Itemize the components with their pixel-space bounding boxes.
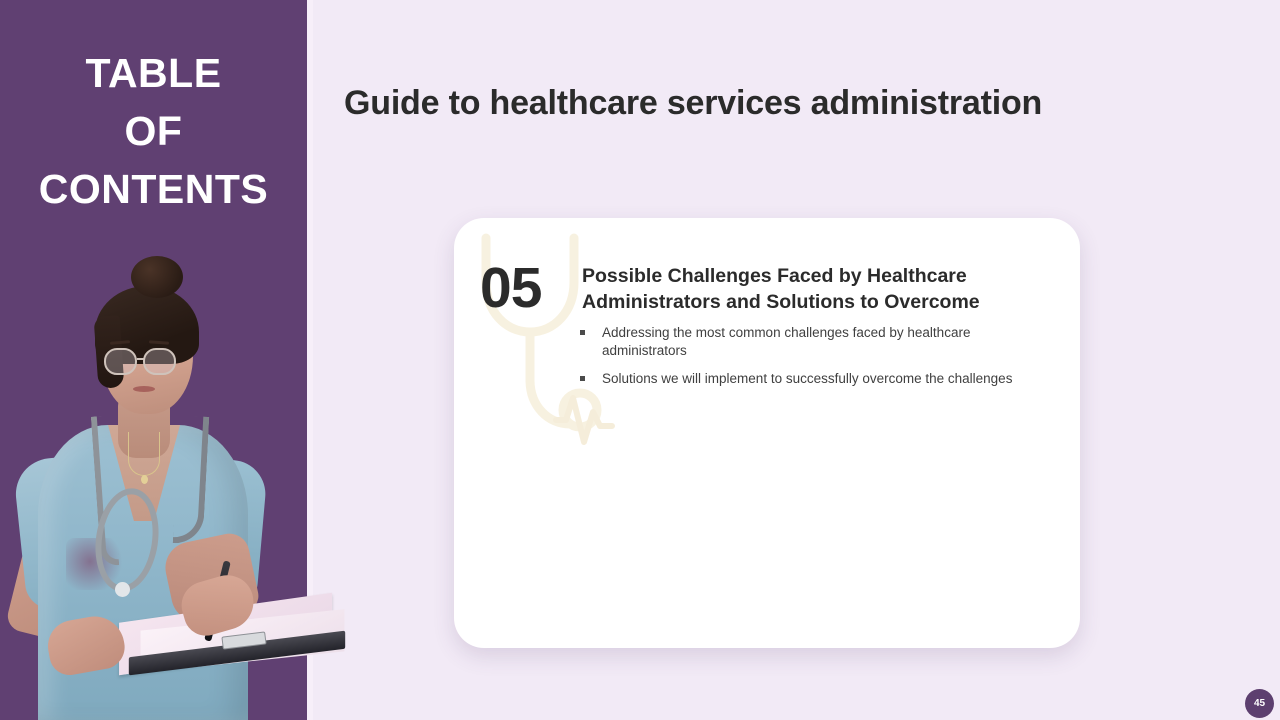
card-number: 05 bbox=[480, 260, 541, 317]
list-item-label: Addressing the most common challenges fa… bbox=[602, 325, 970, 358]
toc-line-2: OF bbox=[0, 102, 307, 160]
content-card[interactable]: 05 Possible Challenges Faced by Healthca… bbox=[454, 218, 1080, 648]
page-number-badge: 45 bbox=[1245, 689, 1274, 718]
list-item: Solutions we will implement to successfu… bbox=[572, 370, 1052, 388]
nurse-hair-bun bbox=[131, 256, 183, 298]
page-title: Guide to healthcare services administrat… bbox=[344, 84, 1224, 123]
bullet-square-icon bbox=[580, 376, 585, 381]
nurse-lips bbox=[133, 386, 155, 392]
slide-canvas: TABLE OF CONTENTS bbox=[0, 0, 1280, 720]
stethoscope-tip-icon bbox=[115, 582, 130, 597]
nurse-necklace-pendant bbox=[141, 475, 148, 484]
toc-line-3: CONTENTS bbox=[0, 160, 307, 218]
eyeglasses-bridge-icon bbox=[137, 358, 145, 360]
list-item: Addressing the most common challenges fa… bbox=[572, 324, 1052, 360]
nurse-photo bbox=[0, 220, 360, 720]
card-bullet-list: Addressing the most common challenges fa… bbox=[572, 324, 1052, 398]
nurse-necklace bbox=[128, 432, 160, 476]
eyeglasses-left-lens-icon bbox=[104, 348, 137, 375]
eyeglasses-right-lens-icon bbox=[143, 348, 176, 375]
table-of-contents-heading: TABLE OF CONTENTS bbox=[0, 44, 307, 218]
bullet-square-icon bbox=[580, 330, 585, 335]
list-item-label: Solutions we will implement to successfu… bbox=[602, 371, 1012, 386]
card-heading: Possible Challenges Faced by Healthcare … bbox=[582, 263, 1052, 315]
toc-line-1: TABLE bbox=[0, 44, 307, 102]
